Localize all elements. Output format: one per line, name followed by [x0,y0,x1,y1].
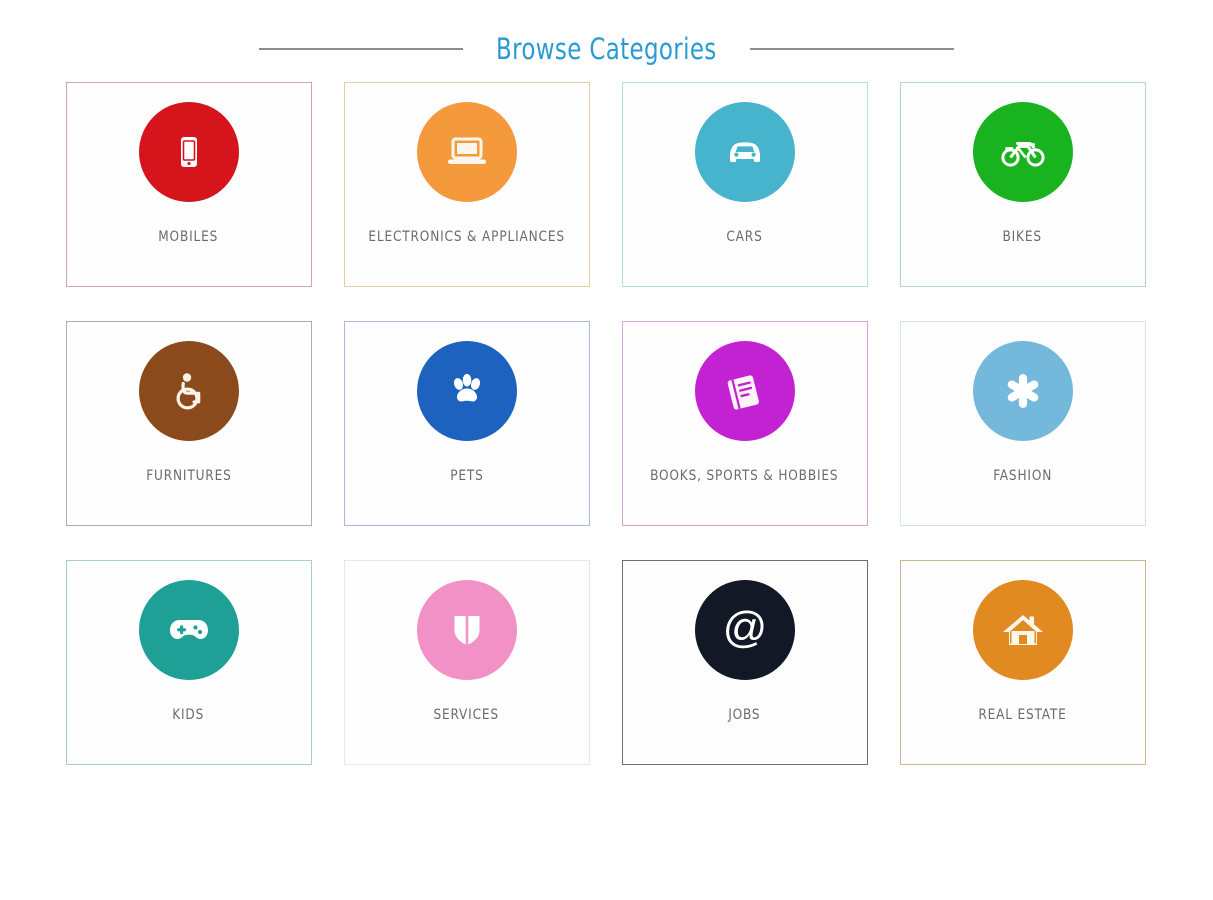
category-label: REAL ESTATE [978,707,1066,724]
book-icon [695,341,795,441]
category-grid: MOBILES ELECTRONICS & APPLIANCES CARS BI… [66,82,1148,765]
category-card[interactable]: BOOKS, SPORTS & HOBBIES [622,321,868,526]
shield-icon [417,580,517,680]
category-card[interactable]: MOBILES [66,82,312,287]
category-card[interactable]: CARS [622,82,868,287]
category-label: MOBILES [159,229,219,246]
svg-text:@: @ [722,604,767,652]
category-card[interactable]: BIKES [900,82,1146,287]
wheelchair-accessible-icon [139,341,239,441]
car-icon [695,102,795,202]
house-icon [973,580,1073,680]
category-card[interactable]: PETS [344,321,590,526]
category-label: SERVICES [434,707,499,724]
category-card[interactable]: @ JOBS [622,560,868,765]
heading-rule-right [750,48,954,50]
category-label: CARS [726,229,762,246]
category-card[interactable]: KIDS [66,560,312,765]
category-card[interactable]: ELECTRONICS & APPLIANCES [344,82,590,287]
heading-rule-left [259,48,463,50]
page-title: Browse Categories [496,32,717,66]
gamepad-icon [139,580,239,680]
category-card[interactable]: FASHION [900,321,1146,526]
category-label: FASHION [993,468,1052,485]
category-card[interactable]: REAL ESTATE [900,560,1146,765]
category-label: BOOKS, SPORTS & HOBBIES [650,468,838,485]
at-sign-icon: @ [695,580,795,680]
category-label: ELECTRONICS & APPLIANCES [368,229,565,246]
category-label: PETS [450,468,483,485]
category-label: BIKES [1003,229,1042,246]
category-label: FURNITURES [146,468,231,485]
laptop-icon [417,102,517,202]
mobile-phone-icon [139,102,239,202]
asterisk-flower-icon [973,341,1073,441]
category-card[interactable]: SERVICES [344,560,590,765]
category-label: JOBS [728,707,760,724]
category-card[interactable]: FURNITURES [66,321,312,526]
motorcycle-icon [973,102,1073,202]
paw-print-icon [417,341,517,441]
category-label: KIDS [173,707,205,724]
page-heading: Browse Categories [0,0,1213,62]
